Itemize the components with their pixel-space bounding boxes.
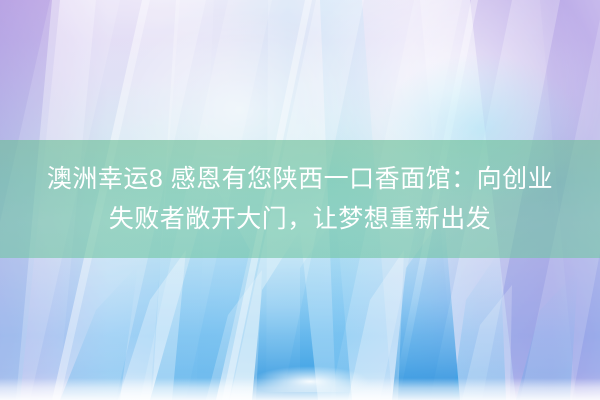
caption-band: 澳洲幸运8 感恩有您陕西一口香面馆：向创业 失败者敞开大门，让梦想重新出发 [0, 140, 600, 258]
banner-canvas: 澳洲幸运8 感恩有您陕西一口香面馆：向创业 失败者敞开大门，让梦想重新出发 [0, 0, 600, 400]
caption-line-2: 失败者敞开大门，让梦想重新出发 [109, 199, 492, 239]
bottom-highlight-spark [250, 366, 370, 392]
caption-line-1: 澳洲幸运8 感恩有您陕西一口香面馆：向创业 [47, 159, 553, 199]
